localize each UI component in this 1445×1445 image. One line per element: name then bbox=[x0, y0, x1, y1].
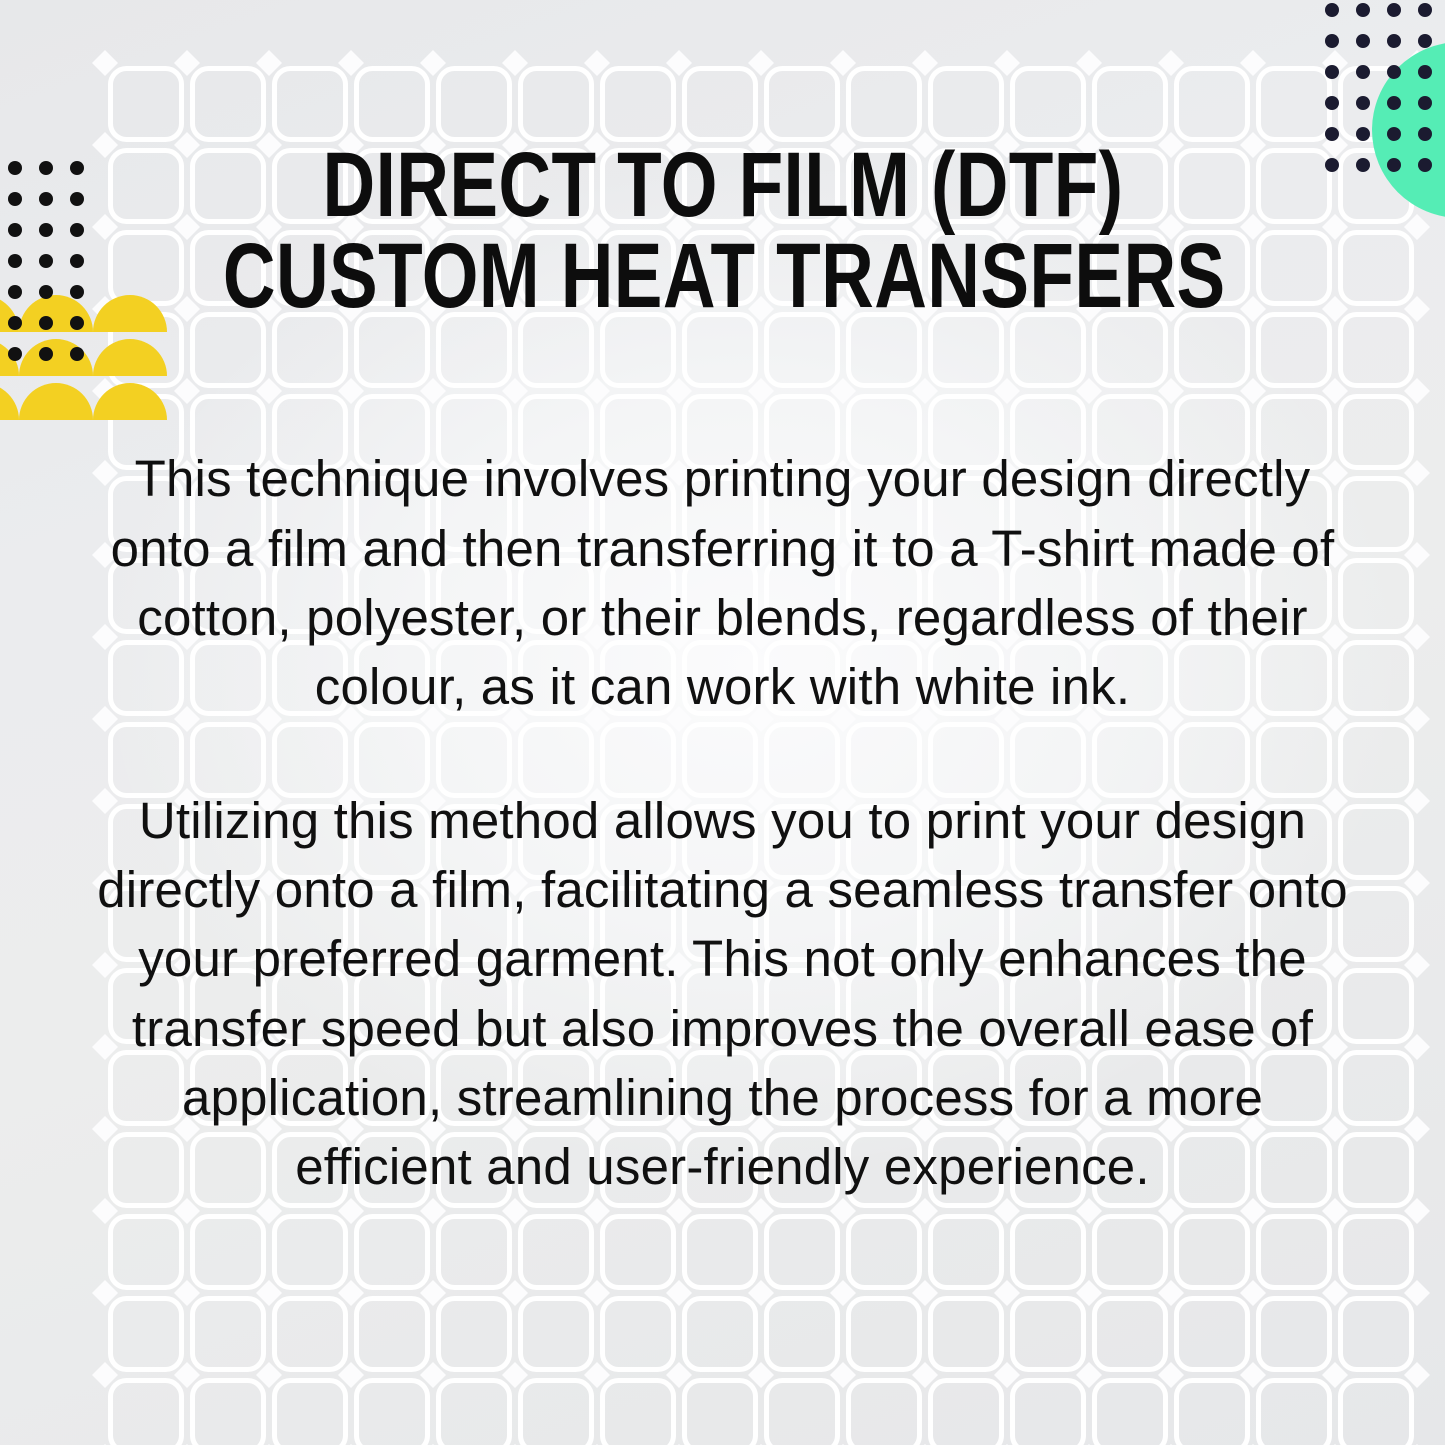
page-title: DIRECT TO FILM (DTF) CUSTOM HEAT TRANSFE… bbox=[92, 0, 1353, 322]
title-line-2: CUSTOM HEAT TRANSFERS bbox=[223, 231, 1226, 322]
poster-content: DIRECT TO FILM (DTF) CUSTOM HEAT TRANSFE… bbox=[0, 0, 1445, 1445]
title-line-1: DIRECT TO FILM (DTF) bbox=[322, 140, 1123, 231]
paragraph-1: This technique involves printing your de… bbox=[95, 444, 1350, 721]
poster-canvas: DIRECT TO FILM (DTF) CUSTOM HEAT TRANSFE… bbox=[0, 0, 1445, 1445]
paragraph-2: Utilizing this method allows you to prin… bbox=[95, 786, 1350, 1202]
body-text-block: This technique involves printing your de… bbox=[95, 444, 1350, 1202]
